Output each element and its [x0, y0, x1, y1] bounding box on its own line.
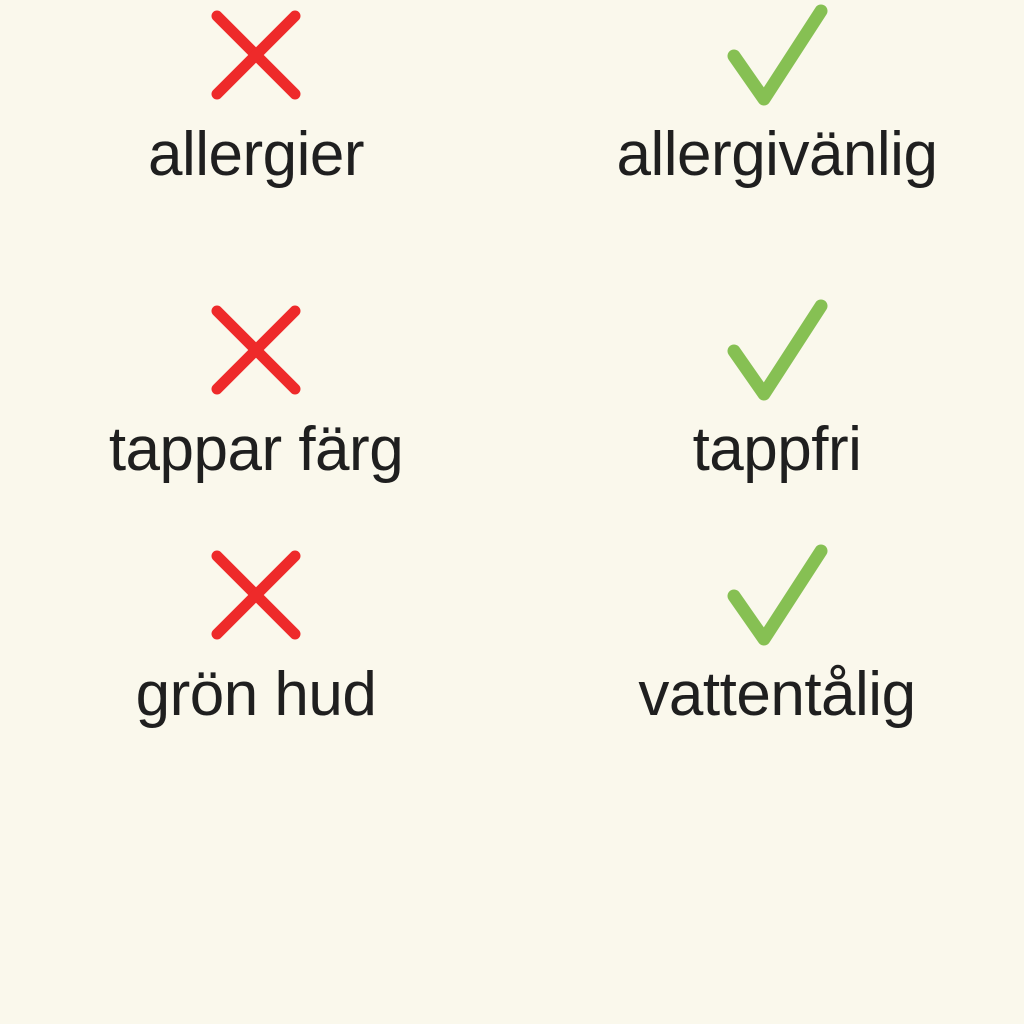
comparison-grid: allergier allergivänlig tappar färg	[0, 0, 1024, 880]
comparison-label-positive-1: allergivänlig	[617, 124, 938, 186]
cross-icon	[201, 295, 311, 405]
comparison-cell-negative-3: grön hud	[0, 540, 512, 726]
check-icon	[722, 0, 832, 110]
cross-icon	[201, 0, 311, 110]
comparison-cell-negative-2: tappar färg	[0, 295, 512, 481]
comparison-cell-negative-1: allergier	[0, 0, 512, 186]
bottom-empty-area	[0, 880, 1024, 1024]
comparison-cell-positive-1: allergivänlig	[512, 0, 1024, 186]
comparison-label-positive-3: vattentålig	[638, 664, 915, 726]
comparison-cell-positive-2: tappfri	[512, 295, 1024, 481]
check-icon	[722, 295, 832, 405]
check-icon	[722, 540, 832, 650]
comparison-label-negative-2: tappar färg	[109, 419, 403, 481]
cross-icon	[201, 540, 311, 650]
comparison-label-negative-3: grön hud	[136, 664, 377, 726]
comparison-label-positive-2: tappfri	[693, 419, 862, 481]
comparison-label-negative-1: allergier	[148, 124, 364, 186]
comparison-board: allergier allergivänlig tappar färg	[0, 0, 1024, 1024]
comparison-cell-positive-3: vattentålig	[512, 540, 1024, 726]
